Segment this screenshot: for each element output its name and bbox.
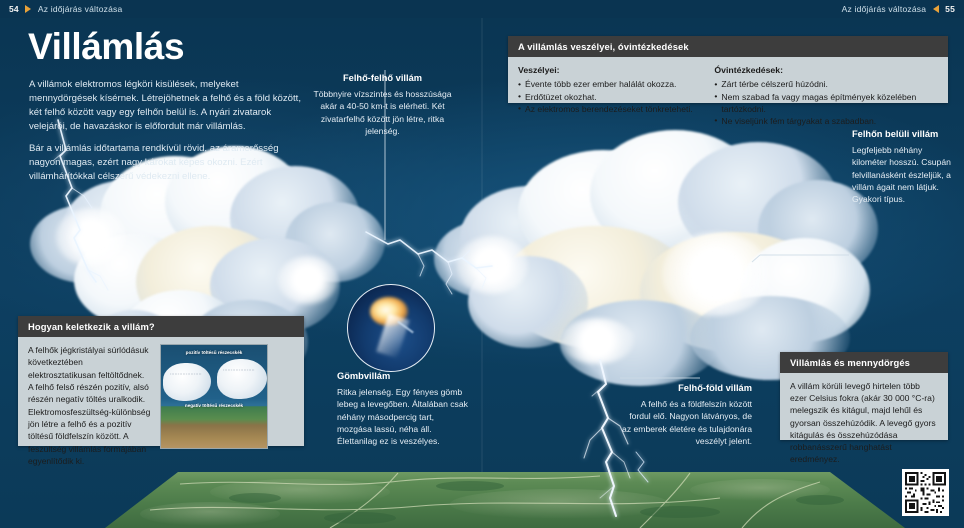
ball-lightning-photo bbox=[347, 284, 435, 372]
thunder-box: Villámlás és mennydörgés A villám körüli… bbox=[780, 352, 948, 440]
dangers-box-title: A villámlás veszélyei, óvintézkedések bbox=[508, 36, 948, 57]
callout-cloud-to-ground-text: A felhő és a földfelszín között fordul e… bbox=[622, 398, 752, 447]
how-lightning-body: A felhők jégkristályai súrlódásuk követk… bbox=[18, 337, 304, 475]
callout-ball-lightning: Gömbvillám Ritka jelenség. Egy fényes gö… bbox=[337, 370, 470, 447]
dangers-left-list: Évente több ezer ember halálát okozza. E… bbox=[518, 78, 700, 115]
right-section-title: Az időjárás változása bbox=[842, 4, 927, 14]
how-lightning-box: Hogyan keletkezik a villám? A felhők jég… bbox=[18, 316, 304, 446]
callout-cloud-to-ground: Felhő-föld villám A felhő és a földfelsz… bbox=[622, 382, 752, 447]
arrow-right-icon bbox=[25, 5, 31, 13]
how-lightning-title: Hogyan keletkezik a villám? bbox=[18, 316, 304, 337]
callout-intra-cloud-text: Legfeljebb néhány kilométer hosszú. Csup… bbox=[852, 144, 956, 205]
callout-cloud-to-cloud: Felhő-felhő villám Többnyire vízszintes … bbox=[305, 72, 460, 137]
infographic-page: 54 Az időjárás változása Az időjárás vál… bbox=[0, 0, 964, 528]
dangers-left-heading: Veszélyei: bbox=[518, 64, 700, 76]
dangers-box: A villámlás veszélyei, óvintézkedések Ve… bbox=[508, 36, 948, 103]
dangers-column-right: Óvintézkedések: Zárt térbe célszerű húzó… bbox=[714, 64, 938, 127]
callout-intra-cloud: Felhőn belüli villám Legfeljebb néhány k… bbox=[852, 128, 956, 205]
intro-paragraph-1: A villámok elektromos légköri kisülések,… bbox=[29, 78, 301, 134]
list-item: Az elektromos berendezéseket tönkretehet… bbox=[518, 103, 700, 115]
left-page-number: 54 bbox=[9, 4, 19, 14]
dangers-right-list: Zárt térbe célszerű húzódni. Nem szabad … bbox=[714, 78, 938, 127]
header-left: 54 Az időjárás változása bbox=[0, 0, 482, 18]
figure-label-negative: negatív töltésű részecskék bbox=[161, 403, 267, 409]
qr-code[interactable] bbox=[902, 469, 949, 516]
left-section-title: Az időjárás változása bbox=[38, 4, 123, 14]
list-item: Erdőtüzet okozhat. bbox=[518, 91, 700, 103]
figure-charge-dots-left: :::::::::::::::::::: bbox=[170, 373, 206, 377]
list-item: Évente több ezer ember halálát okozza. bbox=[518, 78, 700, 90]
intro-text: A villámok elektromos légköri kisülések,… bbox=[29, 78, 301, 184]
how-lightning-text: A felhők jégkristályai súrlódásuk követk… bbox=[28, 344, 151, 467]
figure-charge-dots-right: :::::::::::::::::::: bbox=[223, 369, 261, 373]
header-right: Az időjárás változása 55 bbox=[482, 0, 964, 18]
callout-ball-lightning-title: Gömbvillám bbox=[337, 370, 470, 383]
list-item: Ne viseljünk fém tárgyakat a szabadban. bbox=[714, 115, 938, 127]
callout-cloud-to-ground-title: Felhő-föld villám bbox=[622, 382, 752, 395]
figure-label-positive: pozitív töltésű részecskék bbox=[161, 350, 267, 356]
callout-cloud-to-cloud-text: Többnyire vízszintes és hosszúsága akár … bbox=[305, 88, 460, 137]
right-page-number: 55 bbox=[945, 4, 955, 14]
list-item: Zárt térbe célszerű húzódni. bbox=[714, 78, 938, 90]
charge-separation-figure: :::::::::::::::::::: :::::::::::::::::::… bbox=[160, 344, 268, 449]
thunder-box-text: A villám körüli levegő hirtelen több eze… bbox=[780, 373, 948, 473]
list-item: Nem szabad fa vagy magas építmények köze… bbox=[714, 91, 938, 115]
page-title: Villámlás bbox=[28, 28, 184, 65]
intro-paragraph-2: Bár a villámlás időtartama rendkívül röv… bbox=[29, 142, 301, 184]
qr-code-pattern bbox=[905, 472, 946, 513]
callout-cloud-to-cloud-title: Felhő-felhő villám bbox=[305, 72, 460, 85]
dangers-box-body: Veszélyei: Évente több ezer ember halálá… bbox=[508, 57, 948, 135]
arrow-left-icon bbox=[933, 5, 939, 13]
dangers-right-heading: Óvintézkedések: bbox=[714, 64, 938, 76]
figure-cloud-right bbox=[217, 359, 267, 399]
dangers-column-left: Veszélyei: Évente több ezer ember halálá… bbox=[518, 64, 700, 127]
thunder-box-title: Villámlás és mennydörgés bbox=[780, 352, 948, 373]
callout-ball-lightning-text: Ritka jelenség. Egy fényes gömb lebeg a … bbox=[337, 386, 470, 447]
figure-cloud-left bbox=[163, 363, 211, 401]
